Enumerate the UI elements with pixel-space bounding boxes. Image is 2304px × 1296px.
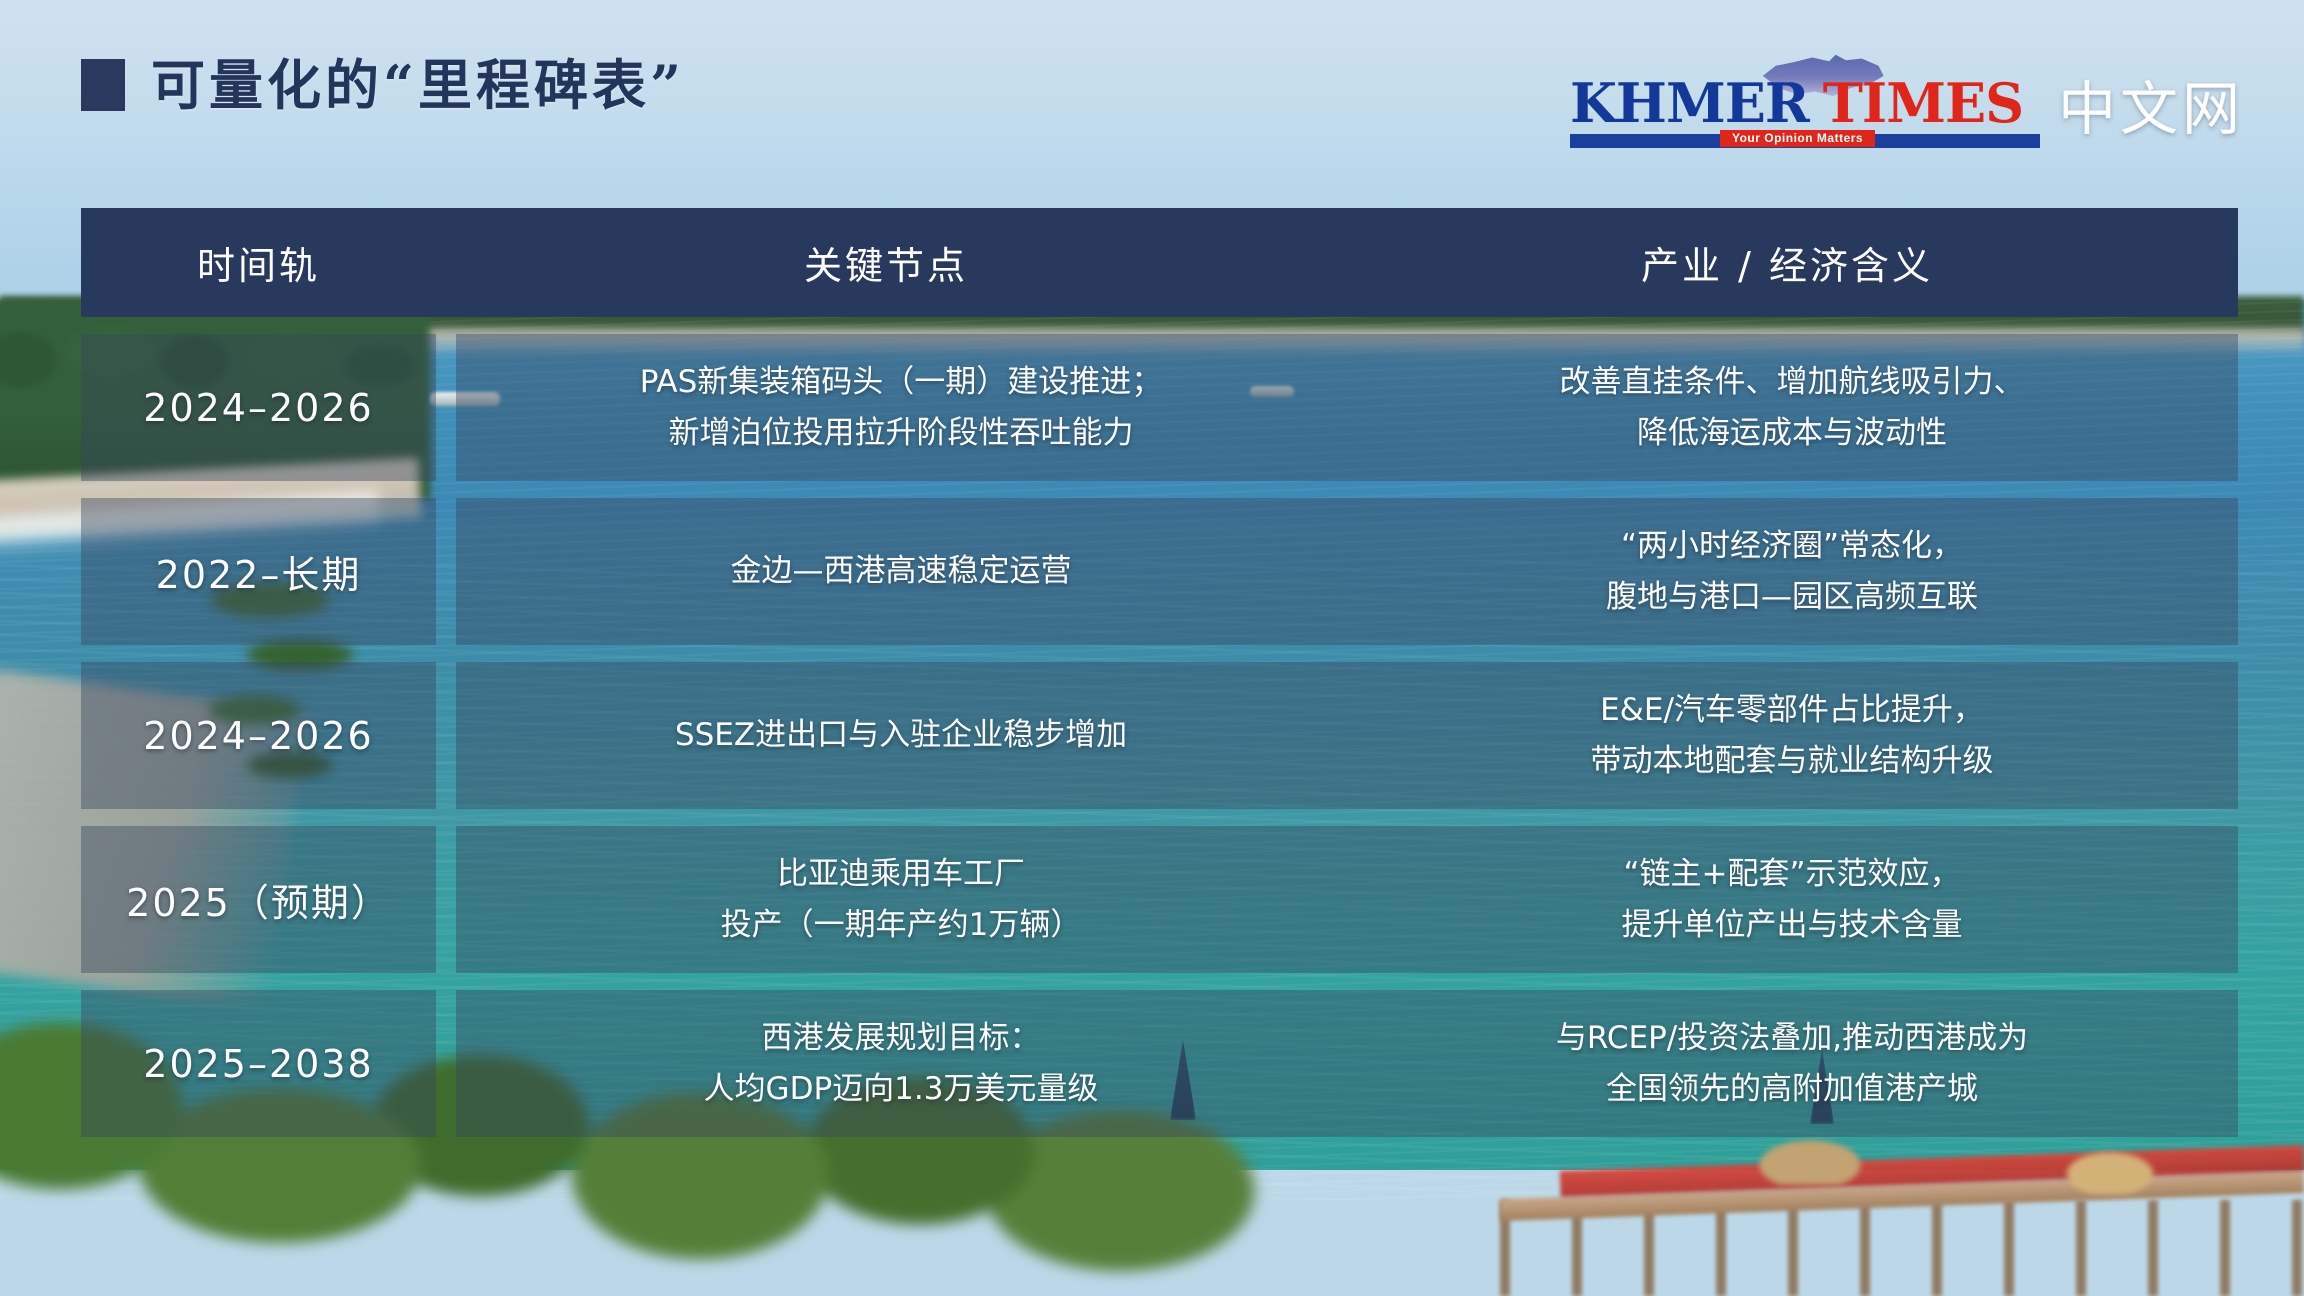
square-bullet-icon xyxy=(81,59,125,111)
cell-body: 金边—西港高速稳定运营“两小时经济圈”常态化，腹地与港口—园区高频互联 xyxy=(456,498,2238,645)
cell-timeline-text: 2024–2026 xyxy=(143,386,373,430)
cell-meaning-line: 改善直挂条件、增加航线吸引力、 xyxy=(1560,357,2025,407)
cell-timeline-text: 2025–2038 xyxy=(143,1042,373,1086)
cell-meaning: “两小时经济圈”常态化，腹地与港口—园区高频互联 xyxy=(1346,498,2238,645)
cell-meaning: “链主+配套”示范效应，提升单位产出与技术含量 xyxy=(1346,826,2238,973)
khmer-times-logo[interactable]: KHMERTIMES Your Opinion Matters 中文网 xyxy=(1570,56,2244,148)
logo-mark: KHMERTIMES Your Opinion Matters xyxy=(1570,56,2040,148)
cell-key-node-line: 新增泊位投用拉升阶段性吞吐能力 xyxy=(669,408,1134,458)
cell-timeline: 2024–2026 xyxy=(81,662,436,809)
logo-wordmark: KHMERTIMES xyxy=(1570,76,2040,130)
cell-timeline-text: 2025（预期） xyxy=(126,872,391,927)
cell-meaning: 改善直挂条件、增加航线吸引力、降低海运成本与波动性 xyxy=(1346,334,2238,481)
cell-meaning-line: E&E/汽车零部件占比提升， xyxy=(1600,685,1984,735)
pier-hut xyxy=(2050,1140,2170,1194)
column-gap xyxy=(436,334,456,481)
cell-meaning-line: 带动本地配套与就业结构升级 xyxy=(1591,736,1994,786)
cell-meaning-line: “链主+配套”示范效应， xyxy=(1623,849,1960,899)
cell-timeline-text: 2022–长期 xyxy=(156,544,362,599)
logo-word-times: TIMES xyxy=(1823,71,2023,135)
cell-key-node-line: 金边—西港高速稳定运营 xyxy=(731,546,1072,596)
cell-key-node: 西港发展规划目标：人均GDP迈向1.3万美元量级 xyxy=(456,990,1346,1137)
cell-key-node-line: 投产（一期年产约1万辆） xyxy=(721,900,1082,950)
cell-key-node: 比亚迪乘用车工厂投产（一期年产约1万辆） xyxy=(456,826,1346,973)
cell-body: 西港发展规划目标：人均GDP迈向1.3万美元量级与RCEP/投资法叠加,推动西港… xyxy=(456,990,2238,1137)
cell-meaning: 与RCEP/投资法叠加,推动西港成为全国领先的高附加值港产城 xyxy=(1346,990,2238,1137)
cell-body: 比亚迪乘用车工厂投产（一期年产约1万辆）“链主+配套”示范效应，提升单位产出与技… xyxy=(456,826,2238,973)
cell-key-node-line: PAS新集装箱码头（一期）建设推进； xyxy=(640,357,1163,407)
page-title: 可量化的“里程碑表” xyxy=(151,58,685,112)
table-body: 2024–2026PAS新集装箱码头（一期）建设推进；新增泊位投用拉升阶段性吞吐… xyxy=(81,334,2238,1137)
milestone-table: 时间轨 关键节点 产业 / 经济含义 2024–2026PAS新集装箱码头（一期… xyxy=(81,208,2238,1137)
cell-timeline: 2025（预期） xyxy=(81,826,436,973)
cell-timeline: 2025–2038 xyxy=(81,990,436,1137)
cell-key-node: SSEZ进出口与入驻企业稳步增加 xyxy=(456,662,1346,809)
cell-meaning-line: “两小时经济圈”常态化， xyxy=(1621,521,1963,571)
cell-meaning-line: 提升单位产出与技术含量 xyxy=(1622,900,1963,950)
table-row: 2024–2026PAS新集装箱码头（一期）建设推进；新增泊位投用拉升阶段性吞吐… xyxy=(81,334,2238,481)
column-header-meaning: 产业 / 经济含义 xyxy=(1336,235,2238,290)
cell-meaning: E&E/汽车零部件占比提升，带动本地配套与就业结构升级 xyxy=(1346,662,2238,809)
logo-word-khmer: KHMER xyxy=(1570,71,1809,135)
column-gap xyxy=(436,662,456,809)
logo-tagline: Your Opinion Matters xyxy=(1720,130,1875,147)
logo-chinese-label: 中文网 xyxy=(2058,80,2244,148)
column-header-node: 关键节点 xyxy=(436,235,1336,290)
column-gap xyxy=(436,826,456,973)
cell-body: SSEZ进出口与入驻企业稳步增加E&E/汽车零部件占比提升，带动本地配套与就业结… xyxy=(456,662,2238,809)
cell-body: PAS新集装箱码头（一期）建设推进；新增泊位投用拉升阶段性吞吐能力改善直挂条件、… xyxy=(456,334,2238,481)
cell-timeline: 2024–2026 xyxy=(81,334,436,481)
cell-meaning-line: 腹地与港口—园区高频互联 xyxy=(1606,572,1978,622)
slide-title-row: 可量化的“里程碑表” xyxy=(81,58,685,112)
cell-key-node-line: 比亚迪乘用车工厂 xyxy=(777,849,1025,899)
cell-key-node-line: SSEZ进出口与入驻企业稳步增加 xyxy=(675,710,1127,760)
slide-root: 可量化的“里程碑表” KHMERTIMES Your Opinion Matte… xyxy=(0,0,2304,1296)
cell-meaning-line: 全国领先的高附加值港产城 xyxy=(1606,1064,1978,1114)
table-row: 2025（预期）比亚迪乘用车工厂投产（一期年产约1万辆）“链主+配套”示范效应，… xyxy=(81,826,2238,973)
table-row: 2024–2026SSEZ进出口与入驻企业稳步增加E&E/汽车零部件占比提升，带… xyxy=(81,662,2238,809)
table-row: 2025–2038西港发展规划目标：人均GDP迈向1.3万美元量级与RCEP/投… xyxy=(81,990,2238,1137)
cell-key-node-line: 人均GDP迈向1.3万美元量级 xyxy=(704,1064,1099,1114)
column-gap xyxy=(436,990,456,1137)
column-header-time: 时间轨 xyxy=(81,235,436,290)
cell-timeline: 2022–长期 xyxy=(81,498,436,645)
table-row: 2022–长期金边—西港高速稳定运营“两小时经济圈”常态化，腹地与港口—园区高频… xyxy=(81,498,2238,645)
cell-meaning-line: 与RCEP/投资法叠加,推动西港成为 xyxy=(1556,1013,2028,1063)
column-gap xyxy=(436,498,456,645)
cell-key-node-line: 西港发展规划目标： xyxy=(762,1013,1041,1063)
cell-meaning-line: 降低海运成本与波动性 xyxy=(1637,408,1947,458)
cell-key-node: PAS新集装箱码头（一期）建设推进；新增泊位投用拉升阶段性吞吐能力 xyxy=(456,334,1346,481)
cell-key-node: 金边—西港高速稳定运营 xyxy=(456,498,1346,645)
cell-timeline-text: 2024–2026 xyxy=(143,714,373,758)
table-header-row: 时间轨 关键节点 产业 / 经济含义 xyxy=(81,208,2238,317)
